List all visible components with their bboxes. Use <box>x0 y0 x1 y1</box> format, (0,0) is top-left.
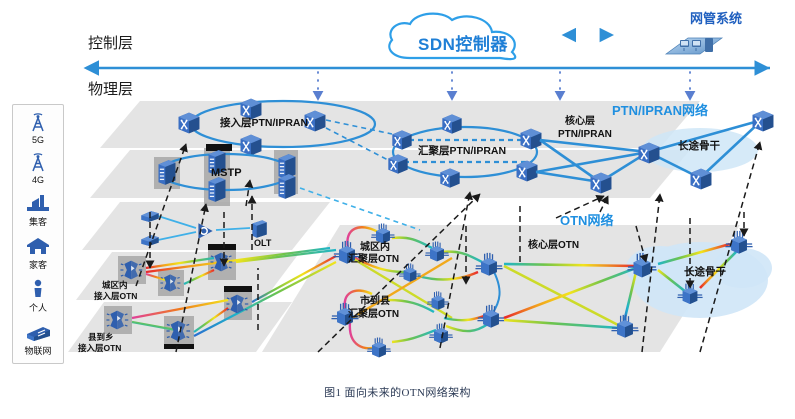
ptn-backbone-node <box>753 111 774 132</box>
ptn-core-node <box>639 143 660 164</box>
otn-core-label: 核心层OTN <box>528 241 579 252</box>
ptn-node <box>392 130 411 149</box>
ptn-network-title: PTN/IPRAN网络 <box>612 104 708 118</box>
tower-5g-icon <box>23 111 53 135</box>
urban-agg-label-line2: 汇聚层OTN <box>348 255 399 266</box>
ptn-node <box>241 135 262 156</box>
sidebar-label: 家客 <box>29 258 47 271</box>
county-access-label-line2: 接入层OTN <box>78 344 121 353</box>
sidebar-item-enterprise[interactable]: 集客 <box>13 191 63 228</box>
urban-access-label-line2: 接入层OTN <box>94 292 137 301</box>
ptn-node <box>517 161 538 182</box>
house-icon <box>23 234 53 258</box>
control-to-physical-connectors <box>318 72 690 100</box>
mstp-node <box>279 174 296 199</box>
ptn-backbone-node <box>691 169 712 190</box>
olt-node <box>252 220 266 238</box>
sidebar-label: 集客 <box>29 215 47 228</box>
sidebar-item-personal[interactable]: 个人 <box>13 277 63 314</box>
ptn-core-label-line1: 核心层 <box>565 117 595 128</box>
factory-icon <box>23 191 53 215</box>
diagram-canvas: 控制层 物理层 SDN控制器 网管系统 接入层PTN/IPRAN MSTP 汇聚… <box>0 0 795 419</box>
ptn-node <box>179 113 200 134</box>
ptn-backbone-label: 长途骨干 <box>678 141 720 152</box>
sidebar-label: 物联网 <box>24 344 51 357</box>
urban-access-label-line1: 城区内 <box>102 281 128 290</box>
physical-layer-label: 物理层 <box>88 82 133 98</box>
mstp-node <box>209 177 226 202</box>
figure-caption: 图1 面向未来的OTN网络架构 <box>0 384 795 400</box>
sidebar-item-4g[interactable]: 4G <box>13 151 63 185</box>
mstp-black-bars <box>206 144 232 151</box>
control-layer-label: 控制层 <box>88 36 133 52</box>
otn-backbone-label: 长途骨干 <box>684 267 726 278</box>
sidebar-item-iot[interactable]: 物联网 <box>13 320 63 357</box>
ptn-node <box>442 114 461 133</box>
sidebar-label: 个人 <box>29 301 47 314</box>
nms-label[interactable]: 网管系统 <box>690 12 742 26</box>
otn-network-title: OTN网络 <box>560 214 613 228</box>
ptn-core-label-line2: PTN/IPRAN <box>558 130 612 141</box>
urban-agg-label-line1: 城区内 <box>360 243 390 254</box>
ptn-node <box>388 154 407 173</box>
sidebar-label: 4G <box>32 175 44 185</box>
person-icon <box>23 277 53 301</box>
sidebar-item-home[interactable]: 家客 <box>13 234 63 271</box>
nms-icon <box>666 38 722 54</box>
sidebar-label: 5G <box>32 135 44 145</box>
tower-4g-icon <box>23 151 53 175</box>
iot-device-icon <box>23 320 53 344</box>
ptn-agg-ring-label: 汇聚层PTN/IPRAN <box>418 146 506 157</box>
olt-label: OLT <box>254 239 271 248</box>
ptn-node <box>521 129 542 150</box>
ptn-node <box>440 168 459 187</box>
sdn-controller-label[interactable]: SDN控制器 <box>418 36 508 54</box>
network-architecture-svg <box>0 0 795 419</box>
ptn-core-node <box>591 173 612 194</box>
county-access-label-line1: 县到乡 <box>88 333 114 342</box>
client-type-sidebar: 5G 4G 集客 <box>12 104 64 364</box>
ptn-access-ring-label: 接入层PTN/IPRAN <box>220 118 308 129</box>
mstp-ring-label: MSTP <box>211 168 242 180</box>
city-county-agg-label-line2: 汇聚层OTN <box>348 310 399 321</box>
sidebar-item-5g[interactable]: 5G <box>13 111 63 145</box>
city-county-agg-label-line1: 市到县 <box>360 297 390 308</box>
